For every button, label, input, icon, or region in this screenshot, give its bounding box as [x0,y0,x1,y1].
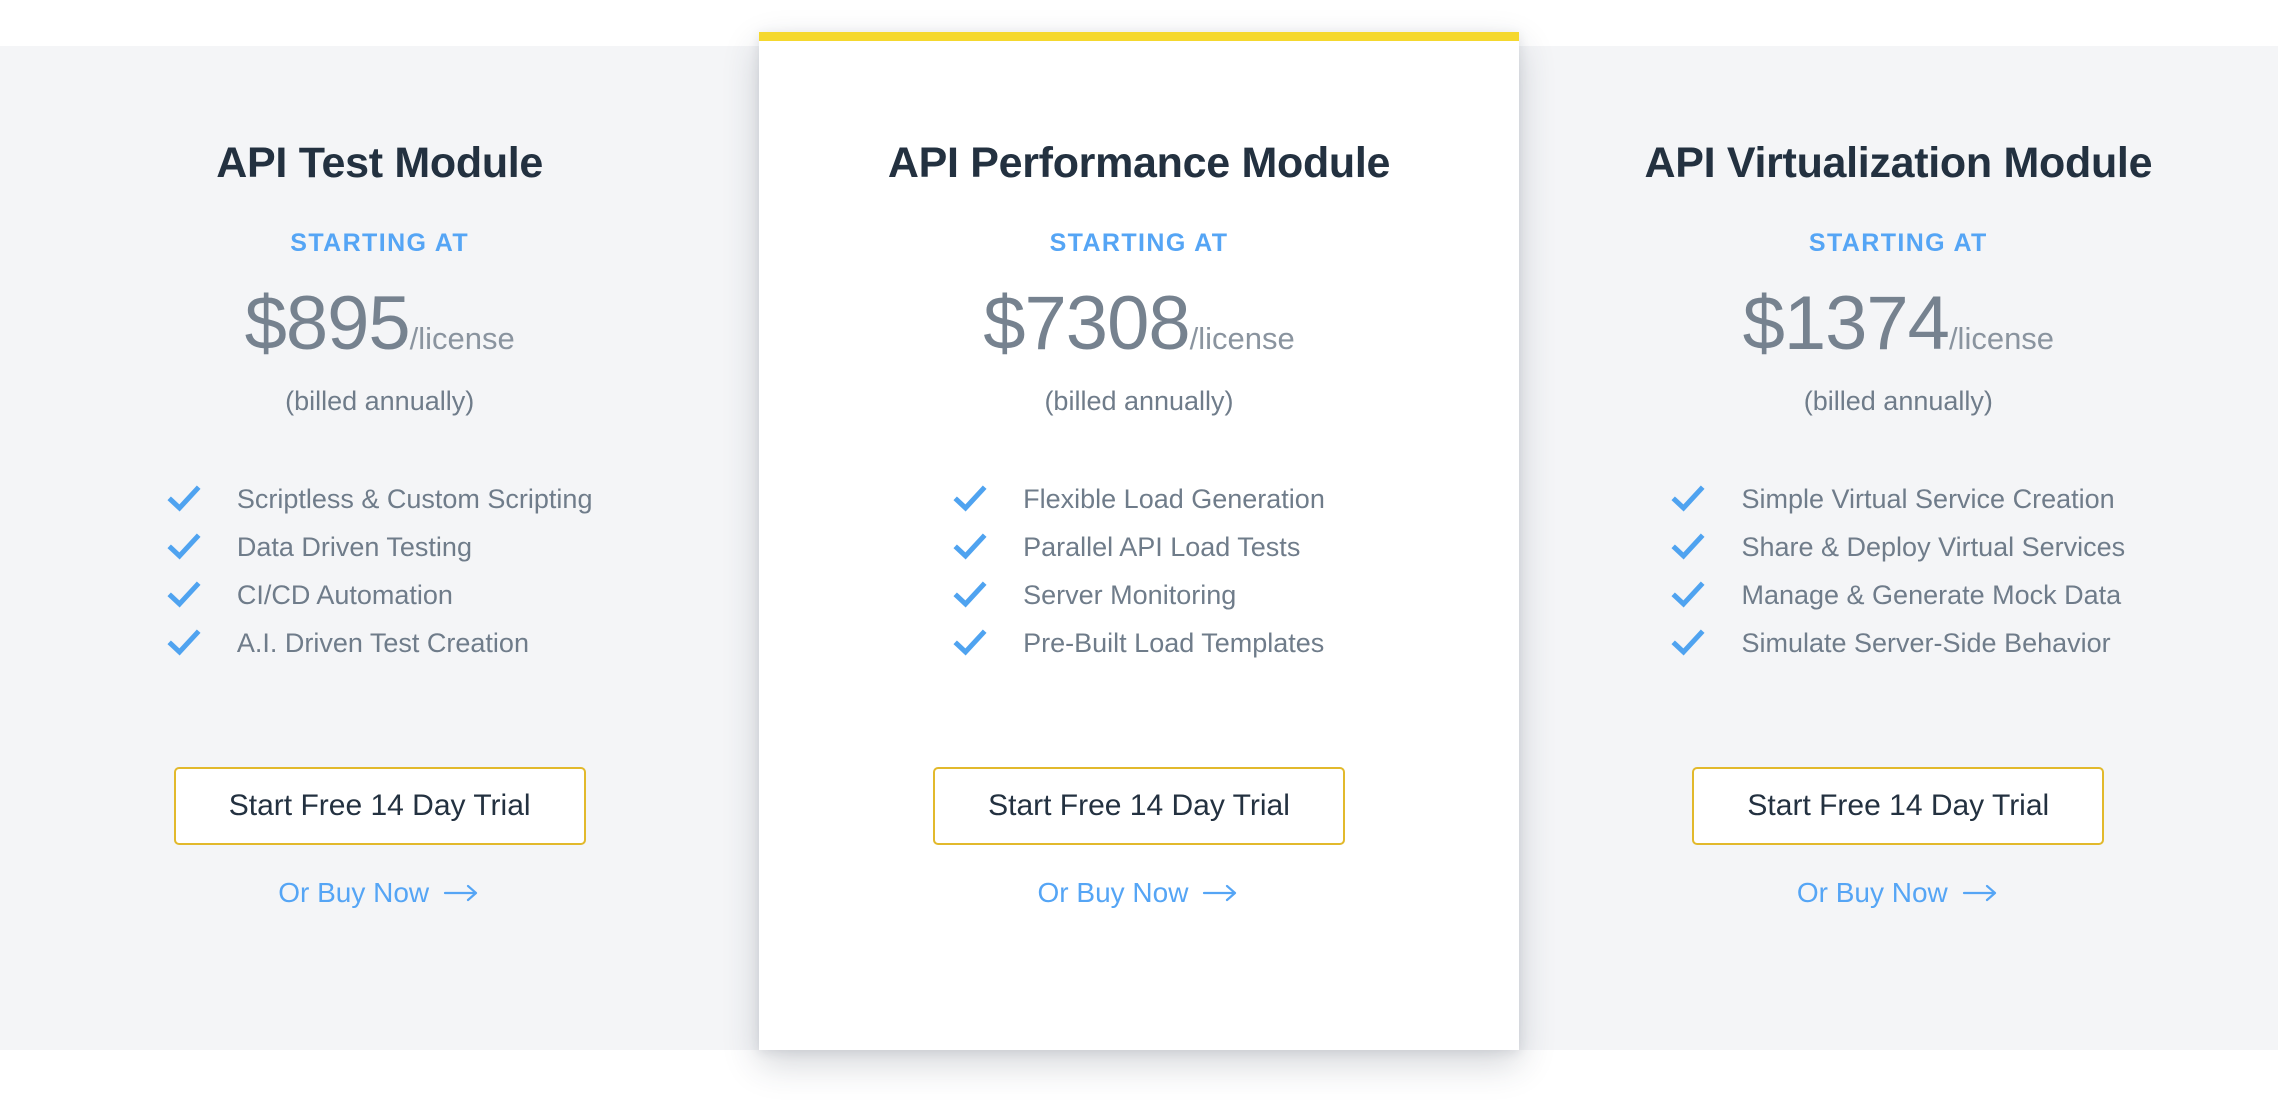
billing-note: (billed annually) [799,386,1478,417]
billing-note: (billed annually) [40,386,719,417]
check-icon [167,482,201,516]
pricing-card-api-performance-module: API Performance Module STARTING AT $7308… [759,32,1518,1050]
feature-label: Simulate Server-Side Behavior [1741,628,2110,659]
price-amount: $7308 [983,286,1189,362]
feature-list: Scriptless & Custom Scripting Data Drive… [167,475,593,667]
feature-item: Server Monitoring [953,571,1325,619]
feature-label: Manage & Generate Mock Data [1741,580,2121,611]
check-icon [1671,626,1705,660]
feature-item: CI/CD Automation [167,571,593,619]
feature-label: Pre-Built Load Templates [1023,628,1324,659]
start-free-trial-button[interactable]: Start Free 14 Day Trial [933,767,1345,845]
feature-list: Simple Virtual Service Creation Share & … [1671,475,2125,667]
check-icon [953,482,987,516]
price-suffix: /license [1949,323,2054,354]
pricing-page: API Test Module STARTING AT $895 /licens… [0,0,2278,1110]
card-title: API Test Module [40,140,719,187]
featured-highlight-bar [759,32,1518,41]
feature-label: Share & Deploy Virtual Services [1741,532,2125,563]
price-row: $895 /license [40,286,719,362]
buy-now-label: Or Buy Now [1038,877,1189,909]
feature-label: Simple Virtual Service Creation [1741,484,2114,515]
arrow-right-icon [1202,882,1240,904]
starting-at-label: STARTING AT [799,229,1478,258]
check-icon [167,530,201,564]
feature-item: A.I. Driven Test Creation [167,619,593,667]
arrow-right-icon [1962,882,2000,904]
feature-item: Pre-Built Load Templates [953,619,1325,667]
price-suffix: /license [1190,323,1295,354]
check-icon [953,626,987,660]
check-icon [953,530,987,564]
price-amount: $1374 [1743,286,1949,362]
feature-label: Scriptless & Custom Scripting [237,484,593,515]
pricing-card-api-virtualization-module: API Virtualization Module STARTING AT $1… [1519,46,2278,909]
price-row: $7308 /license [799,286,1478,362]
starting-at-label: STARTING AT [40,229,719,258]
price-row: $1374 /license [1559,286,2238,362]
arrow-right-icon [443,882,481,904]
feature-item: Manage & Generate Mock Data [1671,571,2125,619]
price-suffix: /license [410,323,515,354]
start-free-trial-button[interactable]: Start Free 14 Day Trial [174,767,586,845]
feature-label: A.I. Driven Test Creation [237,628,529,659]
buy-now-link[interactable]: Or Buy Now [799,877,1478,909]
billing-note: (billed annually) [1559,386,2238,417]
feature-list: Flexible Load Generation Parallel API Lo… [953,475,1325,667]
price-amount: $895 [245,286,410,362]
card-title: API Virtualization Module [1559,140,2238,187]
feature-item: Parallel API Load Tests [953,523,1325,571]
feature-item: Simple Virtual Service Creation [1671,475,2125,523]
pricing-card-api-test-module: API Test Module STARTING AT $895 /licens… [0,46,759,909]
feature-label: Server Monitoring [1023,580,1236,611]
feature-item: Share & Deploy Virtual Services [1671,523,2125,571]
feature-label: Parallel API Load Tests [1023,532,1300,563]
start-free-trial-button[interactable]: Start Free 14 Day Trial [1692,767,2104,845]
feature-item: Flexible Load Generation [953,475,1325,523]
starting-at-label: STARTING AT [1559,229,2238,258]
feature-item: Scriptless & Custom Scripting [167,475,593,523]
feature-label: Data Driven Testing [237,532,472,563]
card-title: API Performance Module [799,140,1478,187]
feature-item: Simulate Server-Side Behavior [1671,619,2125,667]
feature-label: CI/CD Automation [237,580,453,611]
buy-now-label: Or Buy Now [278,877,429,909]
buy-now-label: Or Buy Now [1797,877,1948,909]
check-icon [1671,482,1705,516]
buy-now-link[interactable]: Or Buy Now [1559,877,2238,909]
buy-now-link[interactable]: Or Buy Now [40,877,719,909]
check-icon [167,626,201,660]
check-icon [1671,578,1705,612]
feature-label: Flexible Load Generation [1023,484,1325,515]
check-icon [1671,530,1705,564]
check-icon [167,578,201,612]
feature-item: Data Driven Testing [167,523,593,571]
pricing-card-list: API Test Module STARTING AT $895 /licens… [0,46,2278,1050]
check-icon [953,578,987,612]
